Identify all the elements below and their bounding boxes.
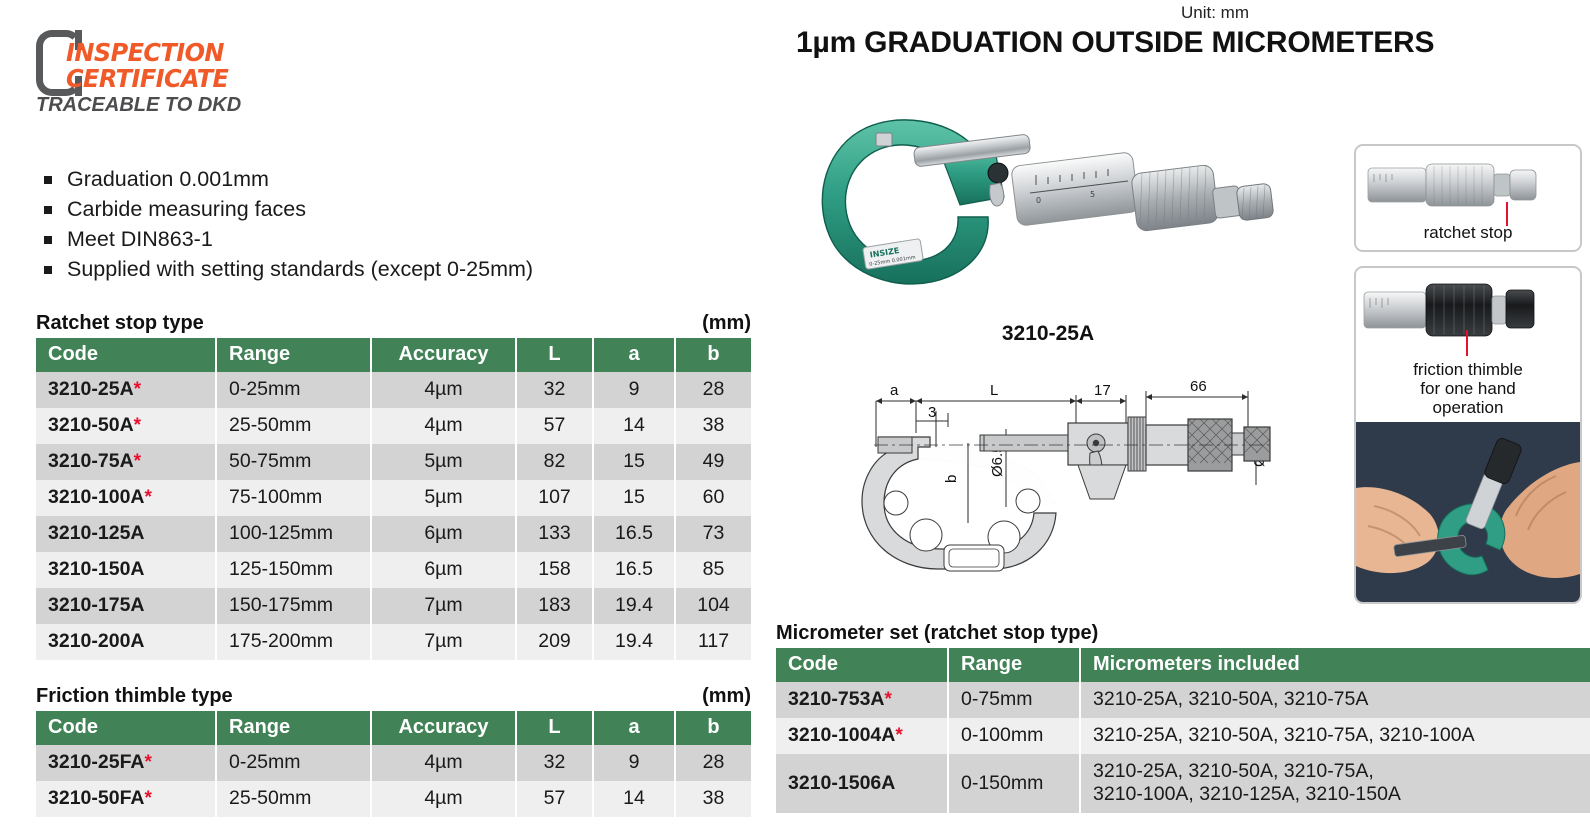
micrometer-set-table: Code Range Micrometers included 3210-753… — [776, 648, 1590, 813]
closeup-sleeve — [1364, 292, 1426, 328]
hero-caption: 3210-25A — [808, 322, 1288, 346]
feature-item: Supplied with setting standards (except … — [44, 256, 684, 282]
cell-b: 28 — [675, 745, 751, 781]
asterisk-marker: * — [134, 415, 141, 436]
ratchet-table-unit: (mm) — [702, 312, 751, 335]
table-row: 3210-25FA* 0-25mm 4µm 32 9 28 — [36, 745, 751, 781]
dimension-drawing: a L 17 66 3 b Ø6.5 Ø18 — [778, 355, 1278, 610]
ratchet-table-caption: Ratchet stop type — [36, 312, 204, 335]
cell-accuracy: 7µm — [371, 624, 516, 660]
cell-l: 57 — [516, 781, 593, 817]
asterisk-marker: * — [144, 788, 151, 809]
cell-range: 0-100mm — [948, 718, 1080, 754]
frame-hole — [1016, 489, 1040, 513]
cell-a: 16.5 — [593, 516, 675, 552]
code-text: 3210-50FA — [48, 787, 144, 809]
cell-code: 3210-753A* — [776, 682, 948, 718]
cell-b: 73 — [675, 516, 751, 552]
column-header-l: L — [516, 338, 593, 372]
cell-b: 28 — [675, 372, 751, 408]
cell-a: 19.4 — [593, 624, 675, 660]
closeup-neck — [1492, 296, 1506, 324]
asterisk-marker: * — [895, 725, 902, 746]
drawing-neck — [1078, 465, 1126, 499]
table-row: 3210-100A* 75-100mm 5µm 107 15 60 — [36, 480, 751, 516]
bullet-square-icon — [44, 236, 52, 244]
cell-included: 3210-25A, 3210-50A, 3210-75A — [1080, 682, 1590, 718]
dim-3-label: 3 — [928, 404, 936, 421]
cell-b: 49 — [675, 444, 751, 480]
table-header-row: Code Range Accuracy L a b — [36, 711, 751, 745]
cell-range: 125-150mm — [216, 552, 371, 588]
code-text: 3210-100A — [48, 486, 145, 508]
cell-range: 175-200mm — [216, 624, 371, 660]
column-header-a: a — [593, 338, 675, 372]
feature-item: Meet DIN863-1 — [44, 226, 684, 252]
feature-label: Supplied with setting standards (except … — [67, 256, 533, 282]
frame-hole — [910, 519, 942, 551]
cell-included: 3210-25A, 3210-50A, 3210-75A, 3210-100A — [1080, 718, 1590, 754]
spindle-lock — [988, 163, 1008, 183]
dim-a-label: a — [890, 382, 899, 399]
cell-l: 57 — [516, 408, 593, 444]
column-header-accuracy: Accuracy — [371, 711, 516, 745]
friction-label-line-1: friction thimble — [1356, 360, 1580, 379]
drawing-spindle — [980, 435, 1076, 451]
certificate-line2: CERTIFICATE — [66, 64, 228, 93]
cell-range: 25-50mm — [216, 408, 371, 444]
cell-a: 14 — [593, 781, 675, 817]
page-title: 1µm GRADUATION OUTSIDE MICROMETERS — [796, 26, 1434, 60]
table-row: 3210-753A* 0-75mm 3210-25A, 3210-50A, 32… — [776, 682, 1590, 718]
dim-17-label: 17 — [1094, 382, 1111, 399]
friction-table-caption: Friction thimble type — [36, 685, 233, 708]
cell-a: 9 — [593, 372, 675, 408]
asterisk-marker: * — [134, 451, 141, 472]
cell-range: 0-25mm — [216, 372, 371, 408]
cell-accuracy: 4µm — [371, 745, 516, 781]
cell-code: 3210-1506A — [776, 754, 948, 813]
feature-list: Graduation 0.001mm Carbide measuring fac… — [44, 166, 684, 286]
column-header-l: L — [516, 711, 593, 745]
feature-label: Meet DIN863-1 — [67, 226, 213, 252]
ratchet-table-caption-row: Ratchet stop type (mm) — [36, 312, 751, 335]
cell-l: 32 — [516, 745, 593, 781]
cell-accuracy: 7µm — [371, 588, 516, 624]
dim-L-label: L — [990, 382, 998, 399]
technical-drawing: a L 17 66 3 b Ø6.5 Ø18 — [778, 355, 1278, 610]
cell-code: 3210-125A — [36, 516, 216, 552]
certificate-line1: INSPECTION — [66, 38, 224, 67]
cell-range: 0-75mm — [948, 682, 1080, 718]
sleeve-scale-label: 0 — [1036, 196, 1041, 205]
column-header-b: b — [675, 338, 751, 372]
drawing-ratchet-neck — [1232, 433, 1244, 455]
cell-l: 183 — [516, 588, 593, 624]
table-row: 3210-125A 100-125mm 6µm 133 16.5 73 — [36, 516, 751, 552]
cell-range: 25-50mm — [216, 781, 371, 817]
cell-l: 32 — [516, 372, 593, 408]
feature-item: Graduation 0.001mm — [44, 166, 684, 192]
friction-table-unit: (mm) — [702, 685, 751, 708]
closeup-thimble — [1426, 164, 1494, 206]
cell-b: 38 — [675, 408, 751, 444]
sleeve-scale-label: 5 — [1090, 190, 1095, 199]
code-text: 3210-25A — [48, 378, 134, 400]
cell-b: 60 — [675, 480, 751, 516]
table-row: 3210-50FA* 25-50mm 4µm 57 14 38 — [36, 781, 751, 817]
code-text: 3210-25FA — [48, 751, 144, 773]
closeup-end-knob — [1506, 290, 1534, 328]
table-row: 3210-25A* 0-25mm 4µm 32 9 28 — [36, 372, 751, 408]
cell-code: 3210-200A — [36, 624, 216, 660]
asterisk-marker: * — [134, 379, 141, 400]
cell-code: 3210-150A — [36, 552, 216, 588]
cell-b: 117 — [675, 624, 751, 660]
cell-b: 104 — [675, 588, 751, 624]
micrometer-illustration: 0 5 INSIZE 0-25mm 0.001mm — [808, 105, 1288, 315]
column-header-code: Code — [36, 338, 216, 372]
table-header-row: Code Range Accuracy L a b — [36, 338, 751, 372]
certificate-subtitle: TRACEABLE TO DKD — [36, 94, 241, 117]
ratchet-stop-label: ratchet stop — [1356, 223, 1580, 242]
dim-b-label: b — [943, 475, 960, 483]
table-row: 3210-175A 150-175mm 7µm 183 19.4 104 — [36, 588, 751, 624]
unit-label: Unit: mm — [1181, 3, 1249, 23]
hands-operation-photo — [1356, 422, 1580, 602]
cell-l: 133 — [516, 516, 593, 552]
cell-range: 0-150mm — [948, 754, 1080, 813]
friction-thimble-label: friction thimble for one hand operation — [1356, 360, 1580, 417]
inspection-certificate-logo: INSPECTION CERTIFICATE TRACEABLE TO DKD — [36, 28, 356, 120]
cell-code: 3210-175A — [36, 588, 216, 624]
table-row: 3210-150A 125-150mm 6µm 158 16.5 85 — [36, 552, 751, 588]
cell-code: 3210-1004A* — [776, 718, 948, 754]
cell-range: 100-125mm — [216, 516, 371, 552]
friction-label-line-2: for one hand — [1356, 379, 1580, 398]
asterisk-marker: * — [145, 487, 152, 508]
cell-a: 14 — [593, 408, 675, 444]
cell-code: 3210-50A* — [36, 408, 216, 444]
cell-accuracy: 5µm — [371, 444, 516, 480]
included-line-2: 3210-100A, 3210-125A, 3210-150A — [1093, 783, 1590, 806]
frame-hole — [884, 491, 908, 515]
anvil — [876, 133, 892, 146]
cell-a: 9 — [593, 745, 675, 781]
cell-l: 82 — [516, 444, 593, 480]
set-table-caption-row: Micrometer set (ratchet stop type) — [776, 622, 1590, 645]
closeup-friction-thimble — [1426, 284, 1492, 336]
code-text: 3210-753A — [788, 688, 885, 710]
cell-accuracy: 6µm — [371, 516, 516, 552]
cell-a: 19.4 — [593, 588, 675, 624]
cell-a: 15 — [593, 480, 675, 516]
column-header-included: Micrometers included — [1080, 648, 1590, 682]
cell-code: 3210-100A* — [36, 480, 216, 516]
table-row: 3210-50A* 25-50mm 4µm 57 14 38 — [36, 408, 751, 444]
table-row: 3210-75A* 50-75mm 5µm 82 15 49 — [36, 444, 751, 480]
cell-code: 3210-50FA* — [36, 781, 216, 817]
ratchet-stop-knob — [1236, 183, 1274, 221]
cell-accuracy: 4µm — [371, 408, 516, 444]
table-row: 3210-1506A 0-150mm 3210-25A, 3210-50A, 3… — [776, 754, 1590, 813]
cell-accuracy: 5µm — [371, 480, 516, 516]
cell-code: 3210-25FA* — [36, 745, 216, 781]
bullet-square-icon — [44, 266, 52, 274]
column-header-b: b — [675, 711, 751, 745]
product-photo-3210-25A: 0 5 INSIZE 0-25mm 0.001mm — [808, 105, 1288, 315]
callout-friction-thimble: friction thimble for one hand operation — [1354, 266, 1582, 604]
cell-accuracy: 6µm — [371, 552, 516, 588]
cell-b: 38 — [675, 781, 751, 817]
cell-range: 50-75mm — [216, 444, 371, 480]
cell-b: 85 — [675, 552, 751, 588]
friction-table-caption-row: Friction thimble type (mm) — [36, 685, 751, 708]
column-header-code: Code — [36, 711, 216, 745]
cell-included: 3210-25A, 3210-50A, 3210-75A, 3210-100A,… — [1080, 754, 1590, 813]
feature-label: Carbide measuring faces — [67, 196, 306, 222]
friction-thimble-table-block: Friction thimble type (mm) Code Range Ac… — [36, 685, 751, 817]
table-row: 3210-1004A* 0-100mm 3210-25A, 3210-50A, … — [776, 718, 1590, 754]
cell-range: 75-100mm — [216, 480, 371, 516]
callout-ratchet-stop: ratchet stop — [1354, 144, 1582, 252]
ratchet-stop-table: Code Range Accuracy L a b 3210-25A* 0-25… — [36, 338, 751, 660]
included-line-1: 3210-25A, 3210-50A, 3210-75A, — [1093, 760, 1590, 783]
cell-l: 107 — [516, 480, 593, 516]
table-row: 3210-200A 175-200mm 7µm 209 19.4 117 — [36, 624, 751, 660]
bullet-square-icon — [44, 176, 52, 184]
lock-lever — [990, 183, 1004, 206]
friction-thimble-closeup-illustration — [1356, 272, 1580, 348]
closeup-sleeve — [1368, 168, 1426, 202]
cell-a: 16.5 — [593, 552, 675, 588]
friction-label-line-3: operation — [1356, 398, 1580, 417]
micrometer-set-table-block: Micrometer set (ratchet stop type) Code … — [776, 622, 1590, 813]
drawing-ratchet-knob — [1244, 427, 1270, 461]
column-header-code: Code — [776, 648, 948, 682]
code-text: 3210-50A — [48, 414, 134, 436]
code-text: 3210-1004A — [788, 724, 895, 746]
cell-a: 15 — [593, 444, 675, 480]
cell-l: 209 — [516, 624, 593, 660]
cell-range: 0-25mm — [216, 745, 371, 781]
column-header-range: Range — [216, 338, 371, 372]
cell-l: 158 — [516, 552, 593, 588]
ratchet-stop-closeup-illustration — [1356, 150, 1580, 220]
ratchet-stop-table-block: Ratchet stop type (mm) Code Range Accura… — [36, 312, 751, 660]
left-column: INSPECTION CERTIFICATE TRACEABLE TO DKD … — [0, 0, 768, 840]
feature-item: Carbide measuring faces — [44, 196, 684, 222]
sleeve — [1011, 152, 1139, 226]
closeup-ratchet-neck — [1494, 174, 1510, 196]
closeup-ratchet-knob — [1510, 170, 1536, 200]
friction-thimble-table: Code Range Accuracy L a b 3210-25FA* 0-2… — [36, 711, 751, 817]
column-header-range: Range — [948, 648, 1080, 682]
dimension-arrows — [876, 394, 1248, 404]
cell-accuracy: 4µm — [371, 781, 516, 817]
column-header-accuracy: Accuracy — [371, 338, 516, 372]
code-text: 3210-75A — [48, 450, 134, 472]
asterisk-marker: * — [885, 689, 892, 710]
table-header-row: Code Range Micrometers included — [776, 648, 1590, 682]
asterisk-marker: * — [144, 752, 151, 773]
bullet-square-icon — [44, 206, 52, 214]
set-table-caption: Micrometer set (ratchet stop type) — [776, 622, 1098, 645]
cell-range: 150-175mm — [216, 588, 371, 624]
column-header-a: a — [593, 711, 675, 745]
cell-code: 3210-25A* — [36, 372, 216, 408]
cell-code: 3210-75A* — [36, 444, 216, 480]
cell-accuracy: 4µm — [371, 372, 516, 408]
feature-label: Graduation 0.001mm — [67, 166, 269, 192]
column-header-range: Range — [216, 711, 371, 745]
dim-66-label: 66 — [1190, 378, 1207, 395]
friction-leader-line — [1466, 330, 1468, 356]
